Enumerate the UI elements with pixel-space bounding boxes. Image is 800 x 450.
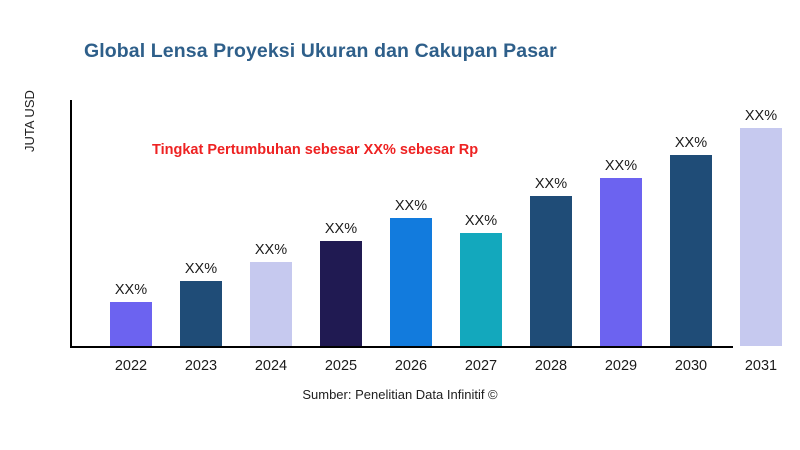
x-axis-tick-label: 2028 bbox=[530, 358, 572, 374]
x-axis-tick-label: 2030 bbox=[670, 358, 712, 374]
bar-group[interactable]: XX% bbox=[250, 262, 292, 346]
growth-rate-annotation: Tingkat Pertumbuhan sebesar XX% sebesar … bbox=[152, 142, 478, 158]
bar-value-label: XX% bbox=[745, 108, 777, 124]
x-axis-tick-label: 2031 bbox=[740, 358, 782, 374]
bar-value-label: XX% bbox=[675, 135, 707, 151]
bar-chart: Global Lensa Proyeksi Ukuran dan Cakupan… bbox=[0, 0, 800, 450]
bar[interactable] bbox=[460, 233, 502, 346]
y-axis-line bbox=[70, 100, 72, 348]
page-title: Global Lensa Proyeksi Ukuran dan Cakupan… bbox=[84, 40, 557, 63]
bar-group[interactable]: XX% bbox=[600, 178, 642, 346]
bar[interactable] bbox=[180, 281, 222, 346]
x-axis-tick-label: 2027 bbox=[460, 358, 502, 374]
bar-value-label: XX% bbox=[255, 242, 287, 258]
source-caption: Sumber: Penelitian Data Infinitif © bbox=[0, 387, 800, 402]
bar[interactable] bbox=[600, 178, 642, 346]
bar-group[interactable]: XX% bbox=[180, 281, 222, 346]
bar-value-label: XX% bbox=[535, 176, 567, 192]
bar-group[interactable]: XX% bbox=[460, 233, 502, 346]
x-axis-tick-label: 2024 bbox=[250, 358, 292, 374]
bar-group[interactable]: XX% bbox=[530, 196, 572, 346]
bar[interactable] bbox=[670, 155, 712, 346]
bar-value-label: XX% bbox=[115, 282, 147, 298]
x-axis-tick-label: 2023 bbox=[180, 358, 222, 374]
x-axis-tick-label: 2022 bbox=[110, 358, 152, 374]
bar-group[interactable]: XX% bbox=[390, 218, 432, 346]
x-axis-line bbox=[70, 346, 733, 348]
bar-value-label: XX% bbox=[465, 213, 497, 229]
bar[interactable] bbox=[740, 128, 782, 346]
bar-group[interactable]: XX% bbox=[320, 241, 362, 346]
bar[interactable] bbox=[390, 218, 432, 346]
bar[interactable] bbox=[250, 262, 292, 346]
bar-group[interactable]: XX% bbox=[110, 302, 152, 346]
y-axis-label: JUTA USD bbox=[22, 32, 37, 152]
bar[interactable] bbox=[320, 241, 362, 346]
x-axis-tick-label: 2025 bbox=[320, 358, 362, 374]
x-axis-tick-label: 2026 bbox=[390, 358, 432, 374]
bar-value-label: XX% bbox=[605, 158, 637, 174]
bar[interactable] bbox=[110, 302, 152, 346]
bar-value-label: XX% bbox=[185, 261, 217, 277]
bar-group[interactable]: XX% bbox=[670, 155, 712, 346]
x-axis-tick-label: 2029 bbox=[600, 358, 642, 374]
bar-value-label: XX% bbox=[325, 221, 357, 237]
plot-area: XX%XX%XX%XX%XX%XX%XX%XX%XX%XX% 202220232… bbox=[70, 100, 785, 348]
bar[interactable] bbox=[530, 196, 572, 346]
bar-value-label: XX% bbox=[395, 198, 427, 214]
bar-group[interactable]: XX% bbox=[740, 128, 782, 346]
